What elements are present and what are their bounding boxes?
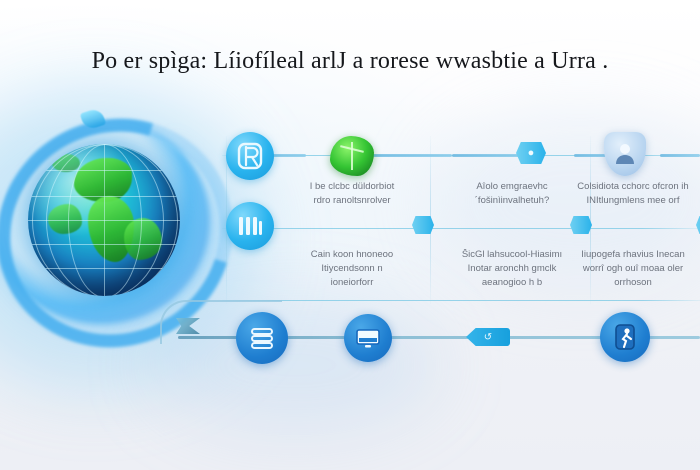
bar-chart-glyph bbox=[237, 215, 263, 237]
grid-divider-bottom bbox=[222, 300, 700, 301]
globe-illustration bbox=[0, 112, 220, 327]
droplet-marker-icon[interactable] bbox=[696, 216, 700, 234]
droplet-marker-icon[interactable] bbox=[412, 216, 434, 234]
cell-line: rdro ranoltsnrolver bbox=[278, 194, 426, 208]
user-badge-icon[interactable] bbox=[604, 132, 646, 176]
bar-chart-icon[interactable] bbox=[226, 202, 274, 250]
cell-line: INItlungmlens mee orf bbox=[562, 194, 700, 208]
globe-sphere bbox=[28, 144, 180, 296]
grid-cell-text: Cain koon hnoneoo Itiycendsonn n ioneior… bbox=[278, 248, 426, 289]
abstract-r-glyph bbox=[237, 142, 263, 170]
monitor-screen-icon[interactable] bbox=[344, 314, 392, 362]
cell-line: Iiupogefa rhavius Inecan bbox=[562, 248, 700, 262]
cell-line: orrhoson bbox=[562, 276, 700, 290]
documents-stack-glyph bbox=[249, 325, 275, 351]
grid-cell-text: Colsidiota cchorc ofcron ih INItlungmlen… bbox=[562, 180, 700, 208]
abstract-r-icon[interactable] bbox=[226, 132, 274, 180]
infographic-canvas: Po er spìga: Líiofíleal arlJ a rorese ww… bbox=[0, 0, 700, 470]
droplet-marker-icon[interactable] bbox=[570, 216, 592, 234]
cell-line: Cain koon hnoneoo bbox=[278, 248, 426, 262]
horizontal-connector bbox=[660, 154, 700, 157]
user-silhouette-glyph bbox=[614, 142, 636, 166]
refresh-glyph: ↺ bbox=[484, 332, 492, 343]
cell-line: ioneiorforr bbox=[278, 276, 426, 290]
arrow-left-chevron-icon[interactable]: ↺ bbox=[466, 328, 510, 346]
cell-line: Colsidiota cchorc ofcron ih bbox=[562, 180, 700, 194]
cell-line: Itiycendsonn n bbox=[278, 262, 426, 276]
leaf-icon[interactable] bbox=[330, 136, 374, 176]
horizontal-connector bbox=[362, 154, 452, 157]
droplet-marker-icon[interactable]: ● bbox=[516, 142, 546, 164]
droplet-marker-glyph: ● bbox=[528, 147, 535, 159]
page-title: Po er spìga: Líiofíleal arlJ a rorese ww… bbox=[0, 48, 700, 75]
person-running-icon[interactable] bbox=[600, 312, 650, 362]
person-running-glyph bbox=[612, 323, 638, 351]
content-grid: ● I be clcbc düldorbiot rdro ranoltsnrol… bbox=[222, 130, 700, 308]
globe-longitude-line bbox=[32, 144, 178, 296]
documents-stack-icon[interactable] bbox=[236, 312, 288, 364]
cell-line: I be clcbc düldorbiot bbox=[278, 180, 426, 194]
globe-longitude-line bbox=[104, 144, 105, 296]
cell-line: worrî ogh ouî moaa oler bbox=[562, 262, 700, 276]
grid-cell-text: I be clcbc düldorbiot rdro ranoltsnrolve… bbox=[278, 180, 426, 208]
grid-divider-middle bbox=[222, 228, 700, 229]
monitor-screen-glyph bbox=[355, 327, 381, 349]
grid-cell-text: Iiupogefa rhavius Inecan worrî ogh ouî m… bbox=[562, 248, 700, 289]
